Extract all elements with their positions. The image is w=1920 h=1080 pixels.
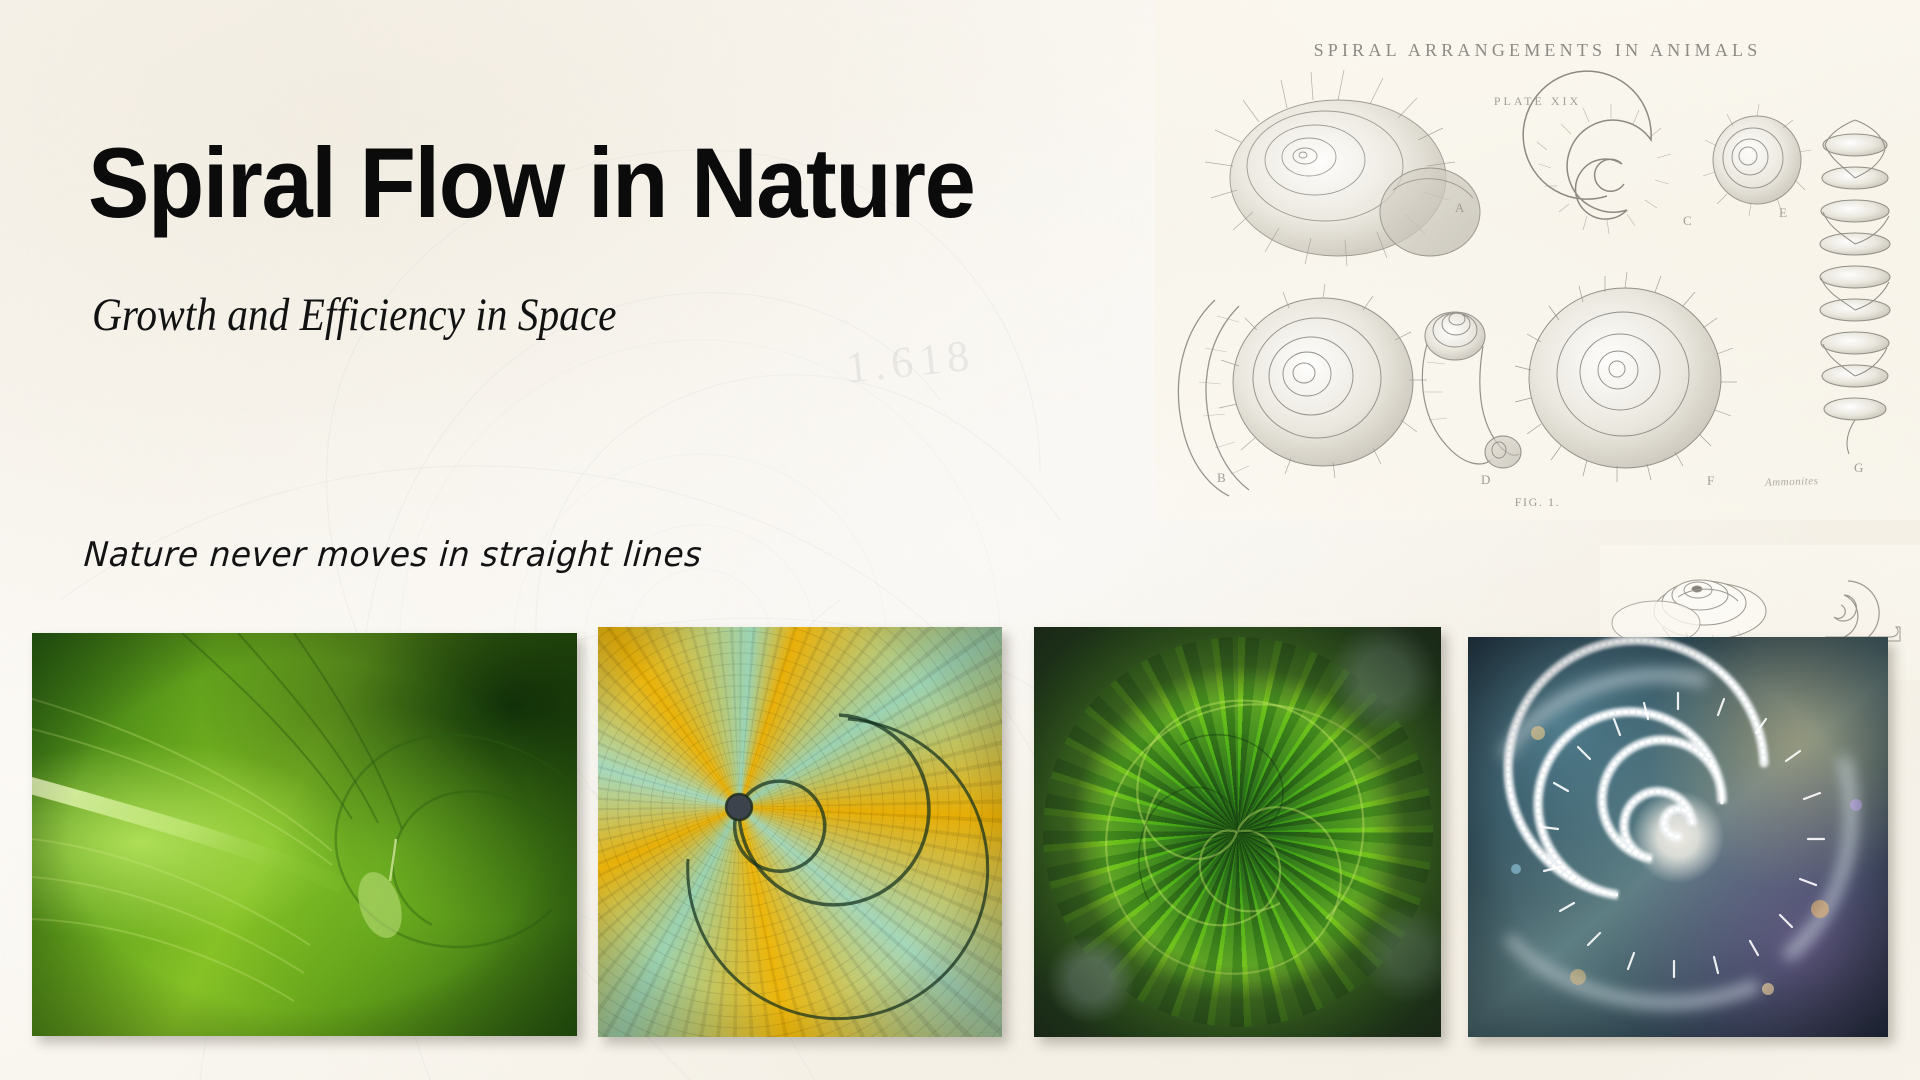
photo-1-leaf-veins [32, 633, 577, 1036]
photo-gallery-strip [0, 0, 1920, 1080]
photo-furled-green-leaf[interactable] [32, 633, 577, 1036]
photo-iridescent-fractal-spiral[interactable] [1468, 637, 1888, 1037]
photo-spiral-aloe[interactable] [1034, 627, 1441, 1037]
photo-2-coil-outline [598, 627, 1002, 1037]
photo-4-frost-spiral [1468, 637, 1888, 1037]
photo-chameleon-tail-spiral[interactable] [598, 627, 1002, 1037]
photo-3-ground-cover [1034, 627, 1441, 1037]
